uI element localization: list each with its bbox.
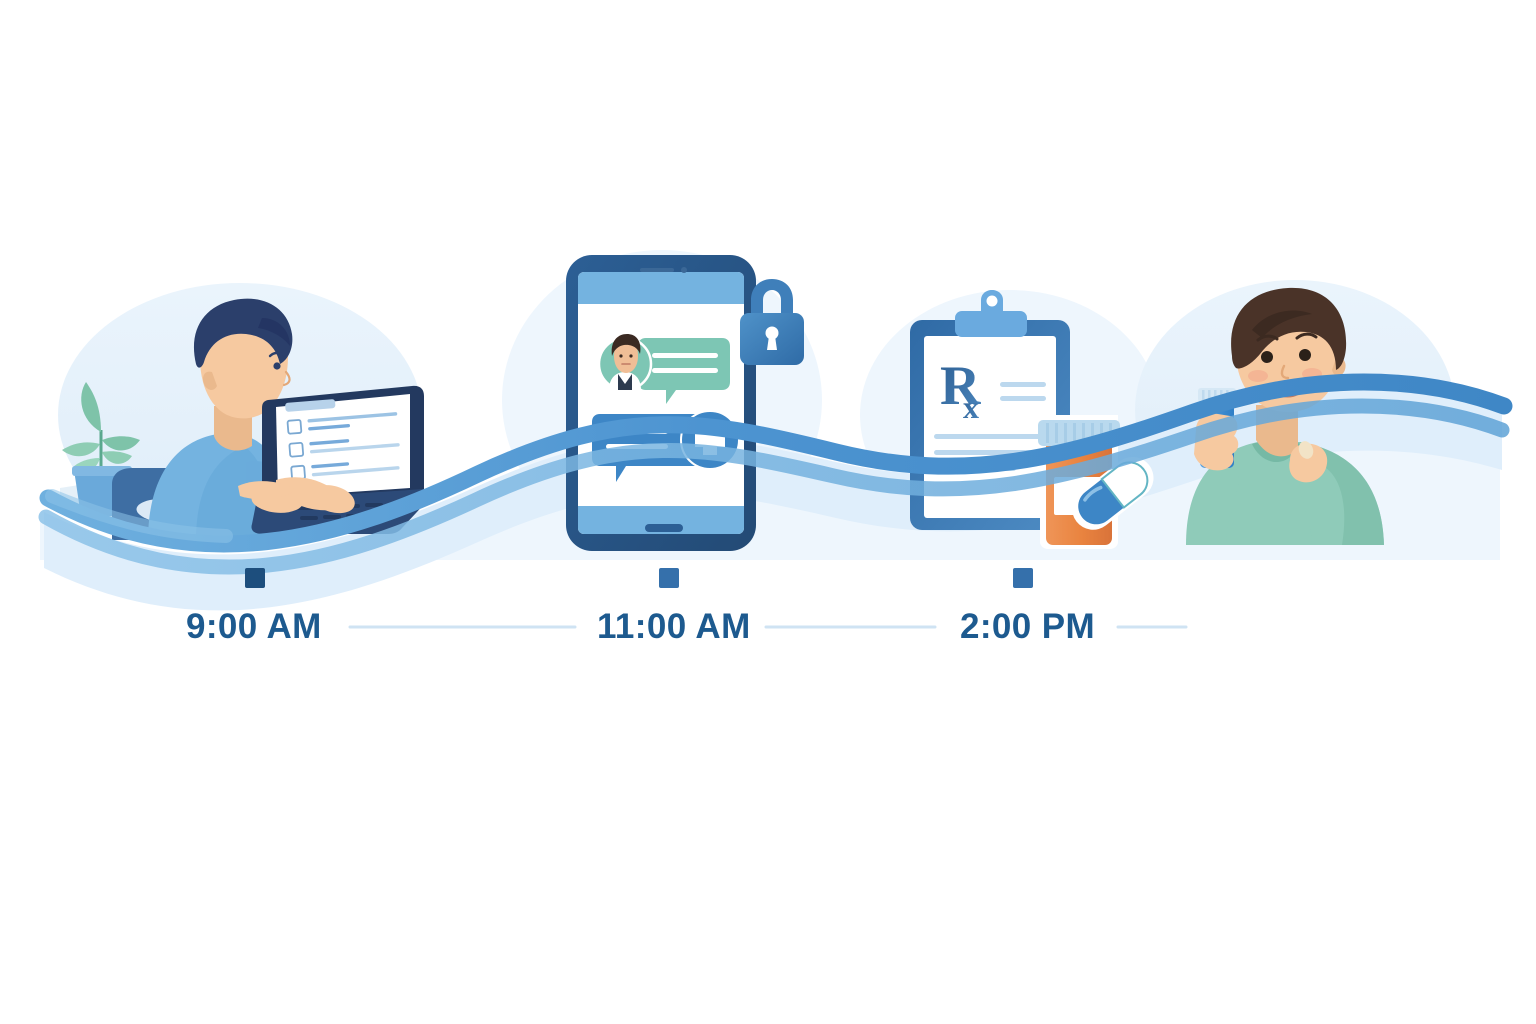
timeline-label-1: 11:00 AM bbox=[597, 609, 751, 644]
rx-line-top-2 bbox=[1000, 396, 1046, 401]
smartphone-camera bbox=[681, 267, 687, 273]
timeline-marker-1[interactable] bbox=[659, 568, 679, 588]
clipboard-clip-hole bbox=[987, 296, 998, 307]
smartphone-home-indicator bbox=[645, 524, 683, 532]
form-checkbox-2 bbox=[289, 443, 303, 457]
timeline-label-0: 9:00 AM bbox=[186, 609, 322, 644]
person-2-eye-right bbox=[1299, 349, 1311, 361]
timeline-marker-0[interactable] bbox=[245, 568, 265, 588]
rx-line-1 bbox=[934, 434, 1044, 439]
timeline-label-2: 2:00 PM bbox=[960, 609, 1095, 644]
incoming-line-1 bbox=[652, 353, 718, 358]
clipboard-clip bbox=[955, 311, 1027, 337]
person-1-eye bbox=[273, 362, 280, 369]
telehealth-journey-illustration: R x bbox=[0, 0, 1536, 1024]
rx-symbol-x: x bbox=[963, 389, 979, 425]
incoming-line-2 bbox=[652, 368, 718, 373]
rx-line-top-1 bbox=[1000, 382, 1046, 387]
form-checkbox-1 bbox=[287, 420, 301, 434]
smartphone-speaker bbox=[640, 268, 674, 272]
smartphone-statusbar bbox=[578, 272, 744, 304]
illustration-canvas: R x bbox=[0, 0, 1536, 1024]
smartphone-screen bbox=[578, 272, 744, 534]
doctor-eye-left bbox=[619, 354, 622, 357]
person-2-eye-left bbox=[1261, 351, 1273, 363]
person-2-blush-left bbox=[1248, 370, 1268, 382]
doctor-eye-right bbox=[629, 354, 632, 357]
timeline-marker-2[interactable] bbox=[1013, 568, 1033, 588]
